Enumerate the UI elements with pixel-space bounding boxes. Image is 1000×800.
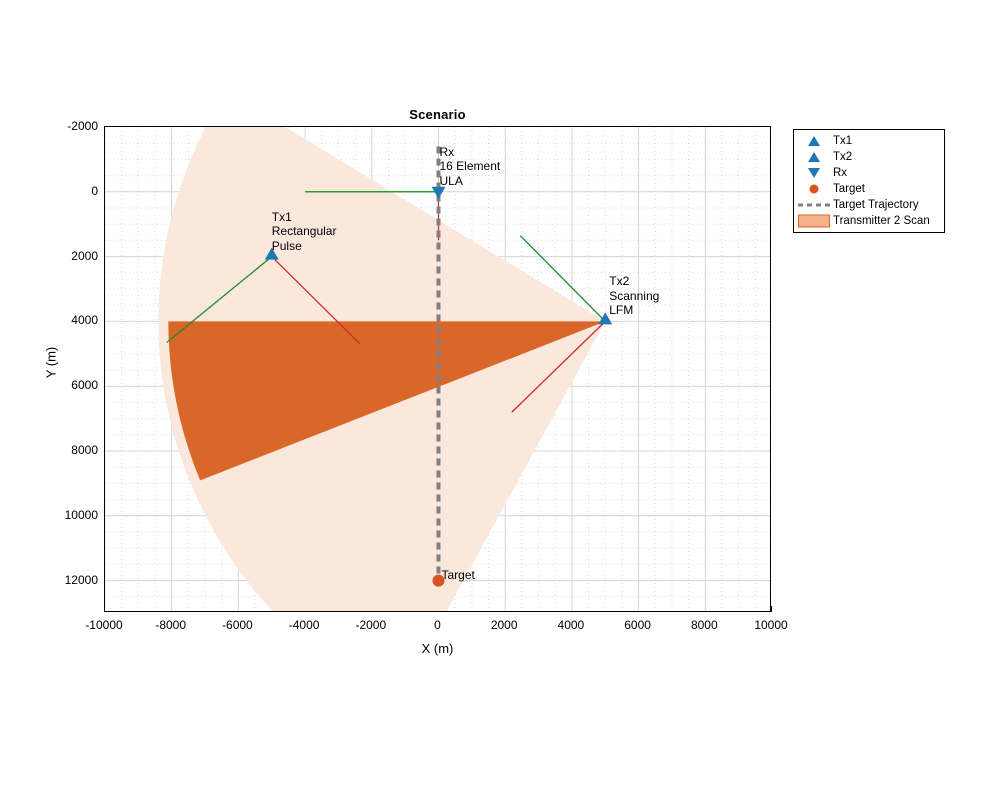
x-tick-label: 2000 (491, 618, 518, 632)
figure-canvas: Scenario X (m) Y (m) -10000-8000-6000-40… (0, 0, 1000, 800)
triangle-up-icon (797, 149, 831, 165)
legend-label: Tx1 (833, 135, 852, 147)
dashed-line-icon (797, 197, 831, 213)
x-tick-label: 6000 (624, 618, 651, 632)
legend-label: Tx2 (833, 151, 852, 163)
legend-item-target[interactable]: Target (797, 181, 940, 197)
triangle-down-icon (797, 165, 831, 181)
y-tick-label: 10000 (32, 508, 98, 522)
patch-swatch-icon (797, 213, 831, 229)
x-tick-label: -2000 (355, 618, 386, 632)
x-tick-label: 8000 (691, 618, 718, 632)
legend-label: Target (833, 183, 865, 195)
y-tick-label: 4000 (32, 313, 98, 327)
y-tick-label: 2000 (32, 249, 98, 263)
y-tick-label: -2000 (32, 119, 98, 133)
plot-area (104, 126, 771, 612)
y-tick-label: 0 (32, 184, 98, 198)
x-tick-label: 0 (434, 618, 441, 632)
x-tick-label: 10000 (754, 618, 787, 632)
legend-label: Rx (833, 167, 847, 179)
legend-item-rx[interactable]: Rx (797, 165, 940, 181)
x-tick-label: 4000 (558, 618, 585, 632)
x-tick-label: -8000 (155, 618, 186, 632)
legend-item-transmitter-2-scan[interactable]: Transmitter 2 Scan (797, 213, 940, 229)
triangle-up-icon (797, 133, 831, 149)
legend-label: Transmitter 2 Scan (833, 215, 930, 227)
legend-item-tx2[interactable]: Tx2 (797, 149, 940, 165)
circle-icon (797, 181, 831, 197)
data-series-layer (105, 127, 770, 611)
y-tick-label: 6000 (32, 378, 98, 392)
x-axis-label: X (m) (104, 641, 771, 656)
x-tick-label: -10000 (85, 618, 122, 632)
legend-label: Target Trajectory (833, 199, 919, 211)
y-tick-label: 8000 (32, 443, 98, 457)
legend-item-target-trajectory[interactable]: Target Trajectory (797, 197, 940, 213)
x-tick-mark (771, 606, 772, 612)
x-tick-label: -4000 (289, 618, 320, 632)
y-tick-label: 12000 (32, 573, 98, 587)
x-tick-label: -6000 (222, 618, 253, 632)
legend-item-tx1[interactable]: Tx1 (797, 133, 940, 149)
page-title: Scenario (104, 107, 771, 122)
legend[interactable]: Tx1Tx2RxTargetTarget TrajectoryTransmitt… (793, 129, 945, 233)
